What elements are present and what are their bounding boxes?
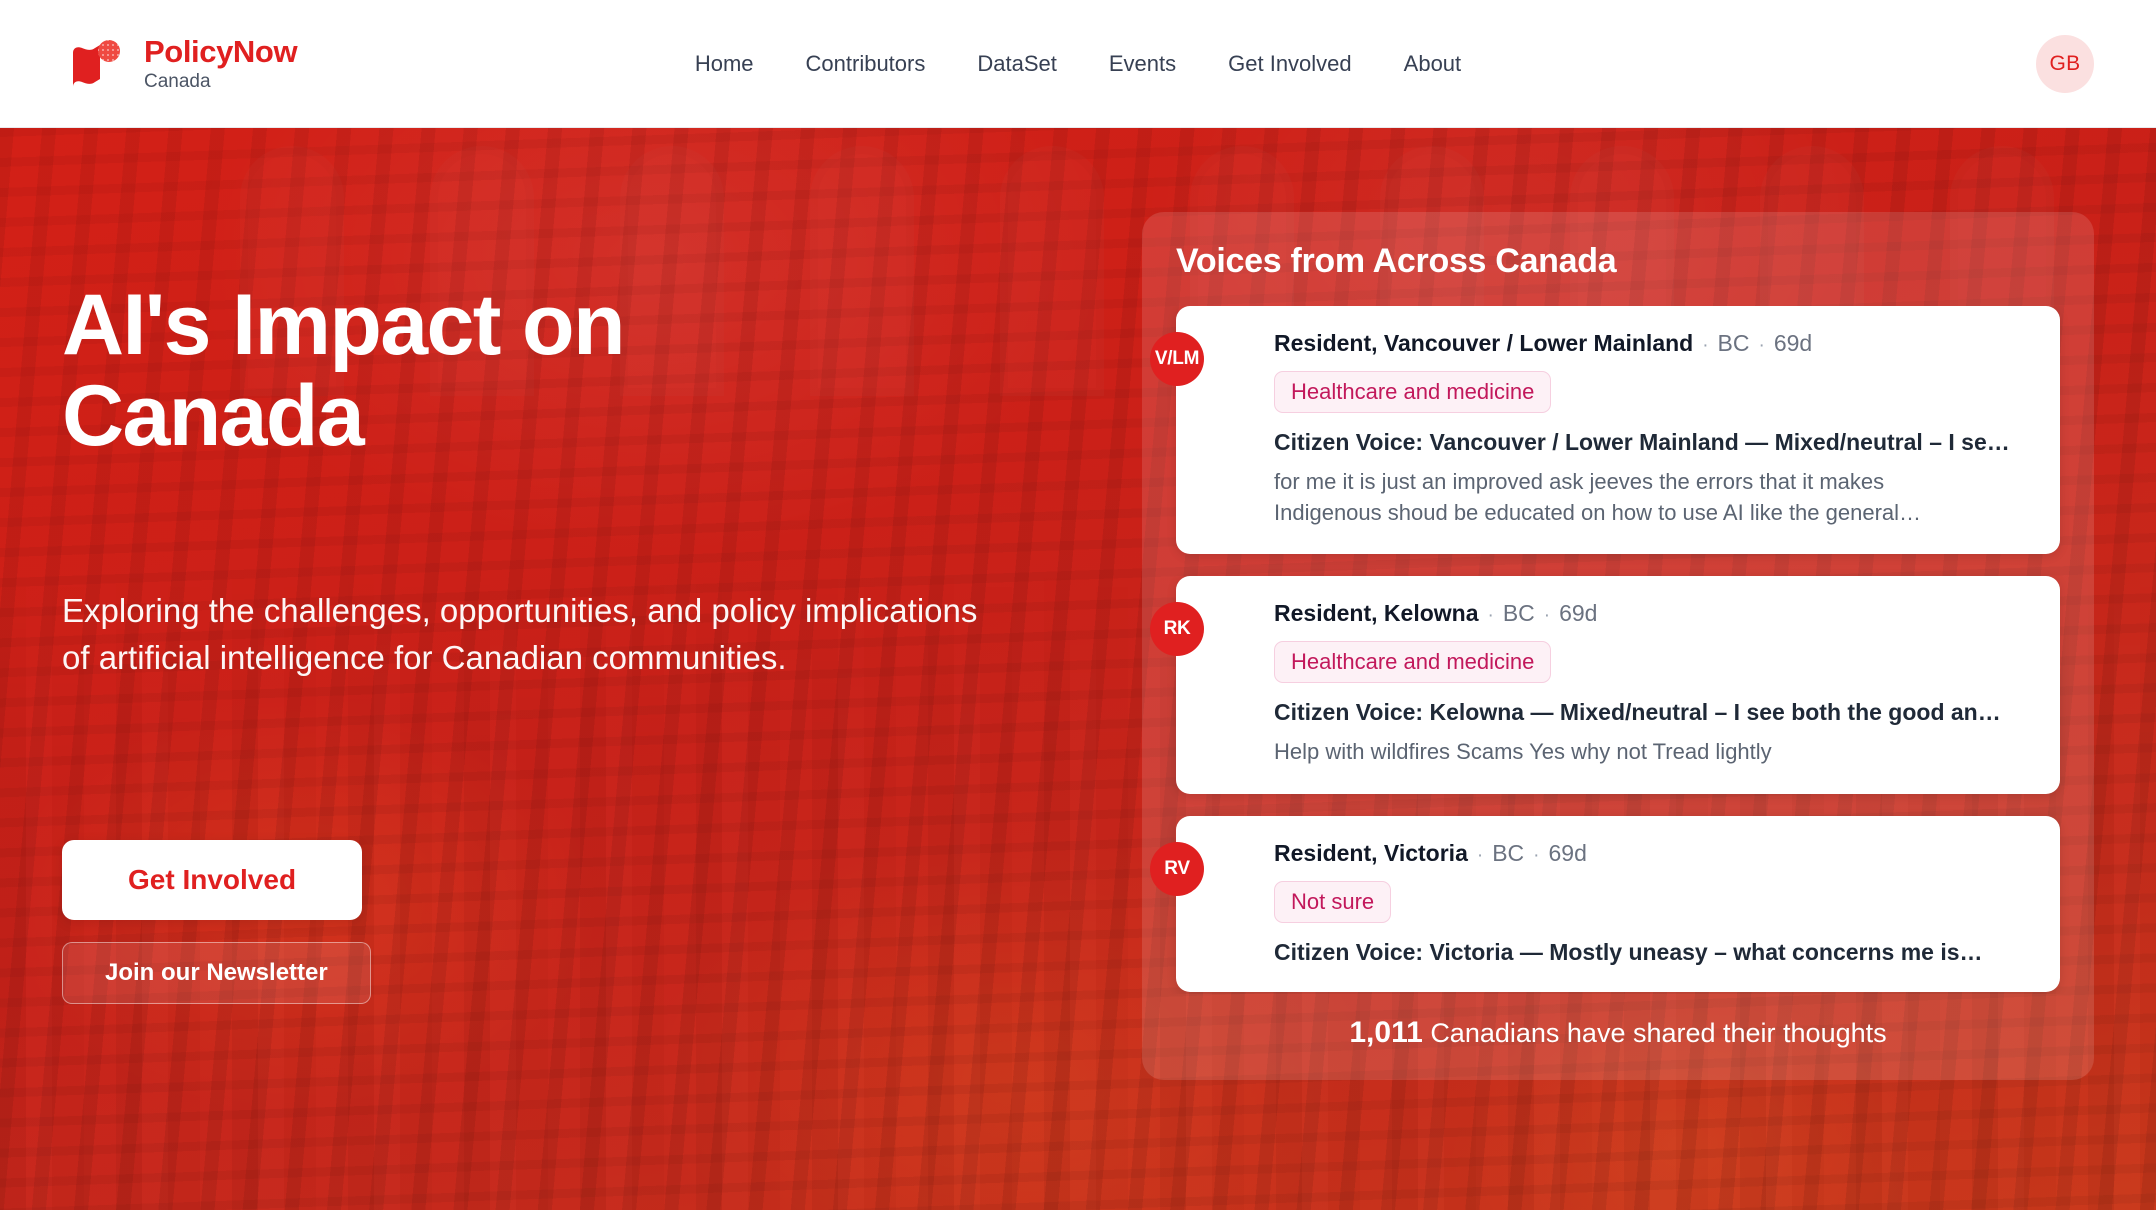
voice-avatar[interactable]: V/LM [1150, 332, 1204, 386]
voice-age: 69d [1774, 330, 1812, 357]
voice-meta: Resident, Victoria · BC · 69d [1274, 840, 2030, 867]
hero-content: AI's Impact on Canada Exploring the chal… [0, 128, 2156, 1210]
voices-panel: Voices from Across Canada V/LM Resident,… [1142, 212, 2094, 1080]
voice-age: 69d [1559, 600, 1597, 627]
nav-item-contributors[interactable]: Contributors [780, 41, 952, 87]
voice-body-line: Indigenous shoud be educated on how to u… [1274, 497, 2030, 528]
nav-item-home[interactable]: Home [669, 41, 780, 87]
nav-item-events[interactable]: Events [1083, 41, 1202, 87]
voice-avatar[interactable]: RV [1150, 842, 1204, 896]
voice-headline: Citizen Voice: Kelowna — Mixed/neutral –… [1274, 699, 2030, 726]
voice-headline: Citizen Voice: Victoria — Mostly uneasy … [1274, 939, 2030, 966]
voice-topic-tag[interactable]: Not sure [1274, 881, 1391, 923]
brand-text: PolicyNow Canada [144, 36, 297, 91]
voices-count: 1,011 [1349, 1016, 1422, 1049]
voice-separator-dot: · [1544, 605, 1550, 627]
voice-topic-tag[interactable]: Healthcare and medicine [1274, 371, 1551, 413]
brand-logo-link[interactable]: PolicyNow Canada [66, 33, 297, 95]
nav-item-dataset[interactable]: DataSet [951, 41, 1083, 87]
avatar[interactable]: GB [2036, 35, 2094, 93]
voices-footer-stat: 1,011 Canadians have shared their though… [1142, 1016, 2094, 1050]
voice-card[interactable]: RK Resident, Kelowna · BC · 69d Healthca… [1176, 576, 2060, 793]
flag-map-icon [66, 33, 128, 95]
voices-panel-title: Voices from Across Canada [1176, 242, 2094, 281]
voice-region: BC [1718, 330, 1750, 357]
voice-region: BC [1503, 600, 1535, 627]
voice-separator-dot: · [1759, 335, 1765, 357]
brand-title: PolicyNow [144, 36, 297, 67]
voice-body: for me it is just an improved ask jeeves… [1274, 466, 2030, 528]
voice-age: 69d [1548, 840, 1586, 867]
voice-topic-tag[interactable]: Healthcare and medicine [1274, 641, 1551, 683]
main-nav: Home Contributors DataSet Events Get Inv… [0, 41, 2156, 87]
voices-scroll-container[interactable]: V/LM Resident, Vancouver / Lower Mainlan… [1142, 306, 2094, 994]
voice-body-line: for me it is just an improved ask jeeves… [1274, 466, 2030, 497]
brand-subtitle: Canada [144, 72, 297, 91]
voice-author: Resident, Victoria [1274, 840, 1468, 867]
voice-region: BC [1492, 840, 1524, 867]
voice-separator-dot: · [1533, 845, 1539, 867]
voice-headline: Citizen Voice: Vancouver / Lower Mainlan… [1274, 429, 2030, 456]
voice-body: Help with wildfires Scams Yes why not Tr… [1274, 736, 2030, 767]
voice-author: Resident, Kelowna [1274, 600, 1478, 627]
voice-meta: Resident, Vancouver / Lower Mainland · B… [1274, 330, 2030, 357]
join-newsletter-button[interactable]: Join our Newsletter [62, 942, 371, 1004]
voice-separator-dot: · [1702, 335, 1708, 357]
hero-subheading: Exploring the challenges, opportunities,… [62, 588, 992, 682]
nav-item-about[interactable]: About [1378, 41, 1488, 87]
page-root: PolicyNow Canada Home Contributors DataS… [0, 0, 2156, 1210]
nav-item-get-involved[interactable]: Get Involved [1202, 41, 1378, 87]
voice-separator-dot: · [1487, 605, 1493, 627]
hero-section: AI's Impact on Canada Exploring the chal… [0, 128, 2156, 1210]
voice-body-line: Help with wildfires Scams Yes why not Tr… [1274, 736, 2030, 767]
hero-actions: Get Involved Join our Newsletter [62, 840, 371, 1004]
voice-author: Resident, Vancouver / Lower Mainland [1274, 330, 1693, 357]
voice-card[interactable]: RV Resident, Victoria · BC · 69d Not sur… [1176, 816, 2060, 992]
site-header: PolicyNow Canada Home Contributors DataS… [0, 0, 2156, 128]
voice-separator-dot: · [1477, 845, 1483, 867]
voice-meta: Resident, Kelowna · BC · 69d [1274, 600, 2030, 627]
get-involved-button[interactable]: Get Involved [62, 840, 362, 920]
voice-card[interactable]: V/LM Resident, Vancouver / Lower Mainlan… [1176, 306, 2060, 554]
page-title: AI's Impact on Canada [62, 280, 942, 462]
voice-avatar[interactable]: RK [1150, 602, 1204, 656]
voices-count-label: Canadians have shared their thoughts [1430, 1018, 1886, 1048]
